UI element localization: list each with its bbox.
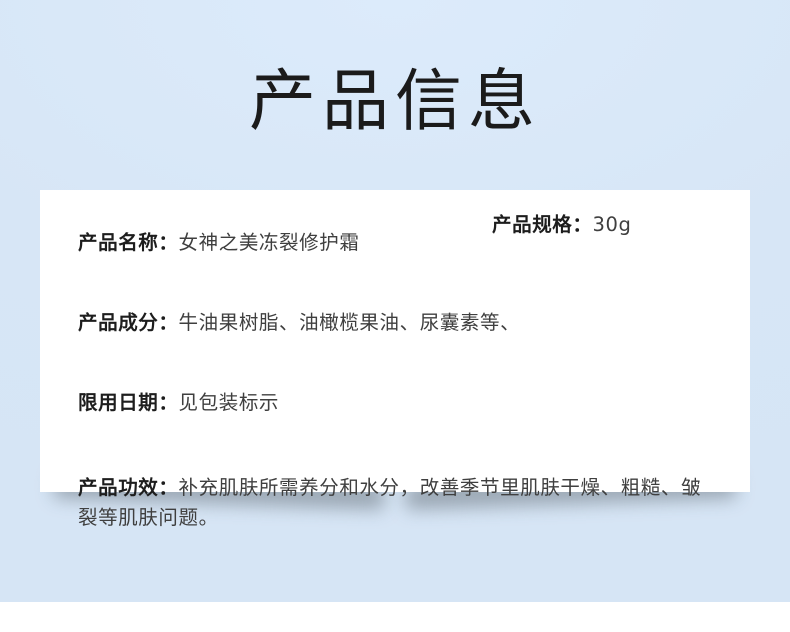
expiry-label: 限用日期：: [78, 388, 179, 418]
product-spec-group: 产品规格：30g: [492, 210, 632, 240]
product-info-card-wrapper: 产品名称：女神之美冻裂修护霜 产品规格：30g 产品成分：牛油果树脂、油橄榄果油…: [40, 190, 750, 492]
page-title: 产品信息: [0, 60, 790, 142]
product-spec-value: 30g: [593, 213, 632, 236]
ingredients-value: 牛油果树脂、油橄榄果油、尿囊素等、: [179, 308, 521, 338]
info-row-efficacy: 产品功效：补充肌肤所需养分和水分，改善季节里肌肤干燥、粗糙、皱裂等肌肤问题。: [78, 443, 726, 533]
info-row-expiry: 限用日期：见包装标示: [78, 363, 726, 443]
info-row-product-name: 产品名称：女神之美冻裂修护霜 产品规格：30g: [78, 210, 726, 283]
info-row-ingredients: 产品成分：牛油果树脂、油橄榄果油、尿囊素等、: [78, 283, 726, 363]
product-info-card: 产品名称：女神之美冻裂修护霜 产品规格：30g 产品成分：牛油果树脂、油橄榄果油…: [40, 190, 750, 492]
product-info-list: 产品名称：女神之美冻裂修护霜 产品规格：30g 产品成分：牛油果树脂、油橄榄果油…: [78, 210, 726, 533]
product-spec-label: 产品规格：: [492, 213, 593, 236]
product-info-page: 产品信息 产品名称：女神之美冻裂修护霜 产品规格：30g 产品成分：牛油果树脂、…: [0, 0, 790, 632]
expiry-value: 见包装标示: [179, 388, 280, 418]
ingredients-label: 产品成分：: [78, 308, 179, 338]
efficacy-text-block: 产品功效：补充肌肤所需养分和水分，改善季节里肌肤干燥、粗糙、皱裂等肌肤问题。: [78, 473, 703, 533]
product-name-label: 产品名称：: [78, 228, 179, 258]
product-name-value: 女神之美冻裂修护霜: [179, 228, 360, 258]
efficacy-label: 产品功效：: [78, 476, 179, 499]
